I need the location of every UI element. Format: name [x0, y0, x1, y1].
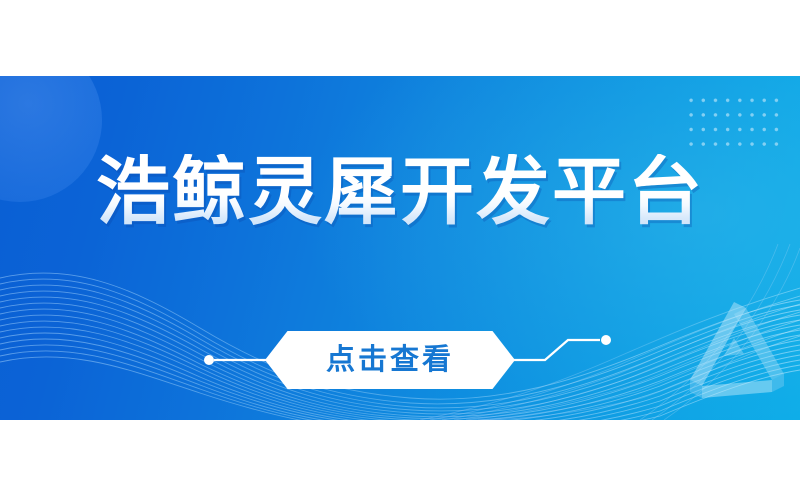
view-details-button[interactable]: 点击查看 [265, 331, 515, 389]
view-details-label: 点击查看 [326, 345, 454, 375]
connector-right-line [512, 340, 600, 360]
banner-stage: 浩鲸灵犀开发平台 点击查看 [0, 0, 800, 500]
hero-banner: 浩鲸灵犀开发平台 点击查看 [0, 76, 800, 420]
cta-row: 点击查看 [0, 328, 800, 392]
connector-left-dot [204, 355, 214, 365]
banner-title-container: 浩鲸灵犀开发平台 [0, 154, 800, 232]
banner-title: 浩鲸灵犀开发平台 [96, 154, 704, 232]
connector-right-dot [601, 335, 611, 345]
dot-grid-icon [683, 90, 779, 147]
